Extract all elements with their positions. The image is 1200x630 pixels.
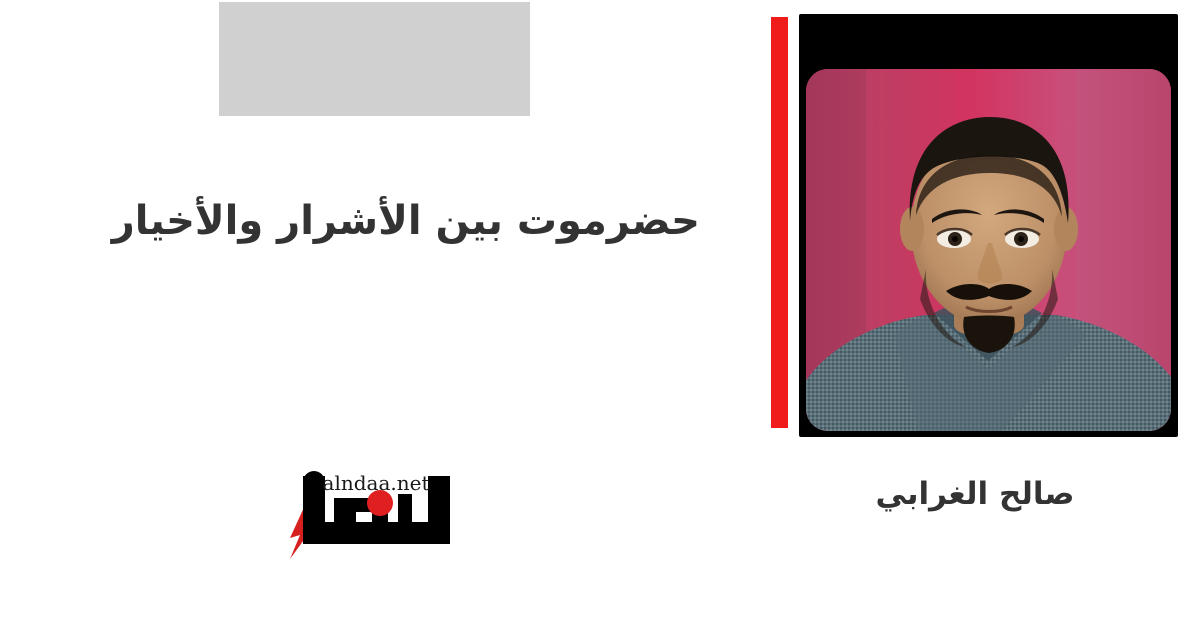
article-headline: حضرموت بين الأشرار والأخيار — [60, 196, 700, 246]
red-accent-bar — [771, 17, 788, 428]
share-card: حضرموت بين الأشرار والأخيار — [0, 0, 1200, 630]
logo-url-text: alndaa.net — [323, 471, 430, 495]
image-placeholder-block — [219, 2, 530, 116]
author-name: صالح الغرابي — [830, 470, 1120, 518]
author-photo — [806, 69, 1171, 431]
site-logo[interactable]: alndaa.net — [276, 456, 476, 564]
author-photo-frame — [799, 14, 1178, 437]
